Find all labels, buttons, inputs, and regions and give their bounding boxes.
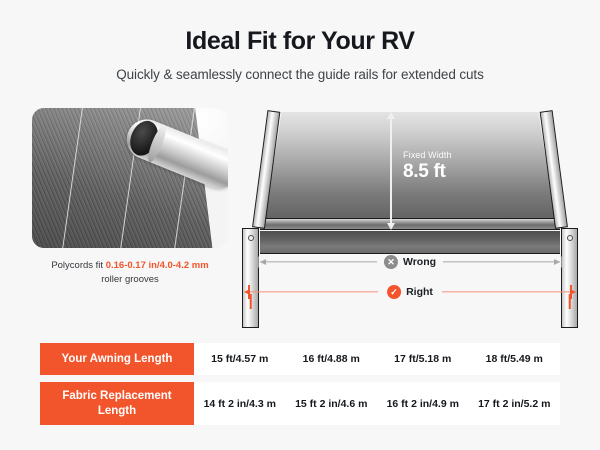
post-bolt-icon xyxy=(248,235,254,241)
wrong-badge: ✕ Wrong xyxy=(377,255,443,269)
table-cell: 15 ft 2 in/4.6 m xyxy=(286,398,378,410)
circle-x-icon: ✕ xyxy=(384,255,398,269)
polycord-caption: Polycords fit 0.16-0.17 in/4.0-4.2 mm ro… xyxy=(32,259,228,287)
wrong-arrowhead-right-icon xyxy=(554,259,560,265)
circle-check-icon: ✓ xyxy=(387,285,401,299)
fixed-width-label-group: Fixed Width 8.5 ft xyxy=(403,150,452,183)
polycord-photo xyxy=(32,108,228,248)
caption-prefix: Polycords fit xyxy=(51,260,105,271)
wrong-badge-label: Wrong xyxy=(403,256,436,268)
page-subtitle: Quickly & seamlessly connect the guide r… xyxy=(0,67,600,82)
right-line-right xyxy=(442,291,576,292)
fixed-width-value: 8.5 ft xyxy=(403,161,452,183)
fixed-width-caption: Fixed Width xyxy=(403,150,452,160)
table-cell: 15 ft/4.57 m xyxy=(194,353,286,365)
awning-post-left xyxy=(242,228,259,328)
table-cell: 17 ft/5.18 m xyxy=(377,353,469,365)
table-cell: 14 ft 2 in/4.3 m xyxy=(194,398,286,410)
table-cell: 17 ft 2 in/5.2 m xyxy=(469,398,561,410)
wrong-endcap-right-icon xyxy=(561,257,562,268)
right-line-left xyxy=(244,291,378,292)
wrong-line-right xyxy=(442,261,560,262)
row-values: 15 ft/4.57 m 16 ft/4.88 m 17 ft/5.18 m 1… xyxy=(194,343,560,375)
table-row: Fabric Replacement Length 14 ft 2 in/4.3… xyxy=(40,382,560,425)
table-row: Your Awning Length 15 ft/4.57 m 16 ft/4.… xyxy=(40,343,560,375)
post-bolt-icon xyxy=(567,235,573,241)
awning-roller-bar xyxy=(260,218,560,230)
wrong-arrowhead-left-icon xyxy=(260,259,266,265)
caption-suffix: roller grooves xyxy=(101,274,159,285)
wrong-endcap-left-icon xyxy=(258,257,259,268)
caption-highlight: 0.16-0.17 in/4.0-4.2 mm xyxy=(106,260,209,271)
right-badge-label: Right xyxy=(406,286,433,298)
table-cell: 16 ft/4.88 m xyxy=(286,353,378,365)
wrong-measurement-row: ✕ Wrong xyxy=(238,254,582,270)
wrong-line-left xyxy=(260,261,378,262)
awning-post-right xyxy=(561,228,578,328)
right-measurement-row: ✓ Right xyxy=(238,284,582,300)
awning-diagram: Fixed Width 8.5 ft ✕ Wrong ✓ Right xyxy=(238,106,582,328)
header: Ideal Fit for Your RV Quickly & seamless… xyxy=(0,0,600,82)
infographic-page: Ideal Fit for Your RV Quickly & seamless… xyxy=(0,0,600,450)
right-badge: ✓ Right xyxy=(380,285,440,299)
size-table: Your Awning Length 15 ft/4.57 m 16 ft/4.… xyxy=(40,343,560,432)
right-endcap-right-icon xyxy=(570,285,572,299)
page-title: Ideal Fit for Your RV xyxy=(0,28,600,56)
fixed-width-arrow-icon xyxy=(390,118,392,224)
row-label-fabric-replacement-length: Fabric Replacement Length xyxy=(40,382,194,425)
table-cell: 18 ft/5.49 m xyxy=(469,353,561,365)
right-endcap-left-icon xyxy=(248,285,250,299)
awning-valance-bar xyxy=(260,231,560,254)
polycord-photo-block: Polycords fit 0.16-0.17 in/4.0-4.2 mm ro… xyxy=(32,108,228,287)
row-label-awning-length: Your Awning Length xyxy=(40,343,194,375)
table-cell: 16 ft 2 in/4.9 m xyxy=(377,398,469,410)
row-values: 14 ft 2 in/4.3 m 15 ft 2 in/4.6 m 16 ft … xyxy=(194,382,560,425)
